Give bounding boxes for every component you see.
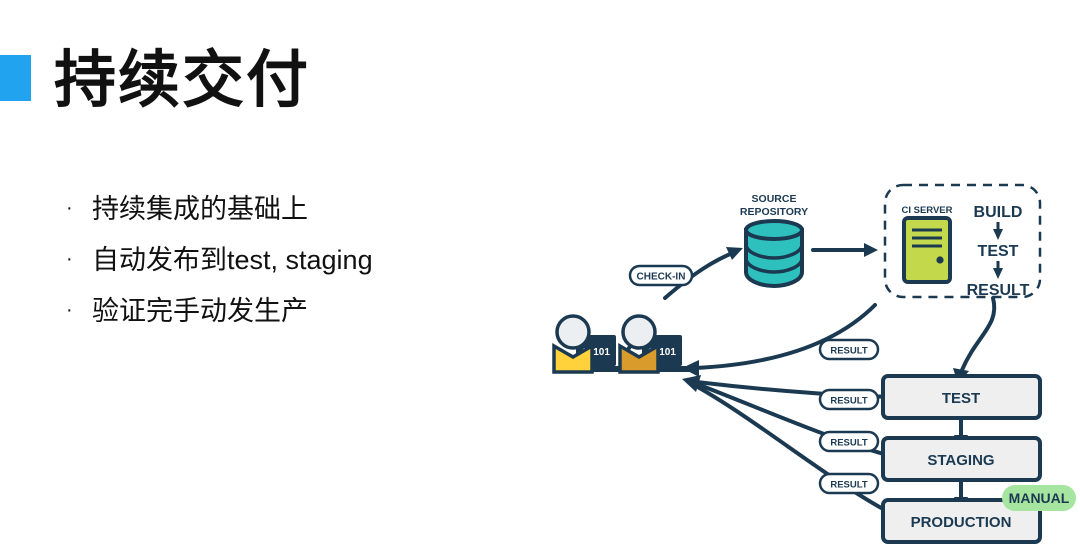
list-item: · 自动发布到test, staging — [66, 243, 506, 277]
source-repository: SOURCE REPOSITORY — [740, 193, 808, 286]
bullet-text: 持续集成的基础上 — [92, 192, 308, 226]
ci-step-build: BUILD — [974, 204, 1023, 221]
manual-badge: MANUAL — [1002, 485, 1076, 511]
ci-cd-pipeline-diagram: CHECK-IN SOURCE REPOSITORY CI SERVER — [530, 160, 1080, 554]
stage-label: STAGING — [927, 452, 994, 469]
bullet-text: 自动发布到test, staging — [92, 243, 373, 277]
result-label: RESULT — [830, 480, 867, 491]
result-badge-2: RESULT — [820, 390, 878, 409]
ci-server-label: CI SERVER — [901, 205, 952, 216]
server-icon — [904, 218, 950, 282]
arrowhead-repo-to-ci — [864, 243, 878, 257]
stage-box-test: TEST — [883, 376, 1040, 418]
ci-step-test: TEST — [978, 243, 1019, 260]
list-item: · 验证完手动发生产 — [66, 294, 506, 328]
result-label: RESULT — [830, 346, 867, 357]
bullet-marker-icon: · — [66, 300, 92, 320]
arrow-ci-to-test — [962, 298, 994, 370]
bullet-text: 验证完手动发生产 — [92, 294, 308, 328]
result-badge-3: RESULT — [820, 432, 878, 451]
result-badge-4: RESULT — [820, 474, 878, 493]
stage-label: PRODUCTION — [911, 514, 1012, 531]
stage-label: TEST — [942, 390, 980, 407]
result-badge-1: RESULT — [820, 340, 878, 359]
result-label: RESULT — [830, 396, 867, 407]
source-repository-label-line2: REPOSITORY — [740, 206, 808, 218]
check-in-label: CHECK-IN — [637, 272, 686, 283]
manual-label: MANUAL — [1009, 490, 1070, 506]
ci-server-group: CI SERVER BUILD TEST — [885, 185, 1040, 299]
slide: 持续交付 · 持续集成的基础上 · 自动发布到test, staging · 验… — [0, 0, 1080, 554]
page-title: 持续交付 — [54, 45, 310, 117]
check-in-badge: CHECK-IN — [630, 266, 692, 285]
bullet-marker-icon: · — [66, 249, 92, 269]
title-accent-square — [0, 55, 31, 101]
developer-2: 10101 — [620, 316, 692, 372]
list-item: · 持续集成的基础上 — [66, 192, 506, 226]
bullet-list: · 持续集成的基础上 · 自动发布到test, staging · 验证完手动发… — [66, 192, 506, 345]
bullet-marker-icon: · — [66, 198, 92, 218]
ci-step-result: RESULT — [967, 282, 1030, 299]
stage-box-staging: STAGING — [883, 438, 1040, 480]
database-cylinder-icon — [746, 221, 802, 286]
source-repository-label-line1: SOURCE — [752, 193, 797, 205]
ci-step-arrow-2 — [993, 261, 1003, 279]
ci-step-arrow-1 — [993, 222, 1003, 240]
developer-1: 10101 — [554, 316, 626, 372]
result-label: RESULT — [830, 438, 867, 449]
